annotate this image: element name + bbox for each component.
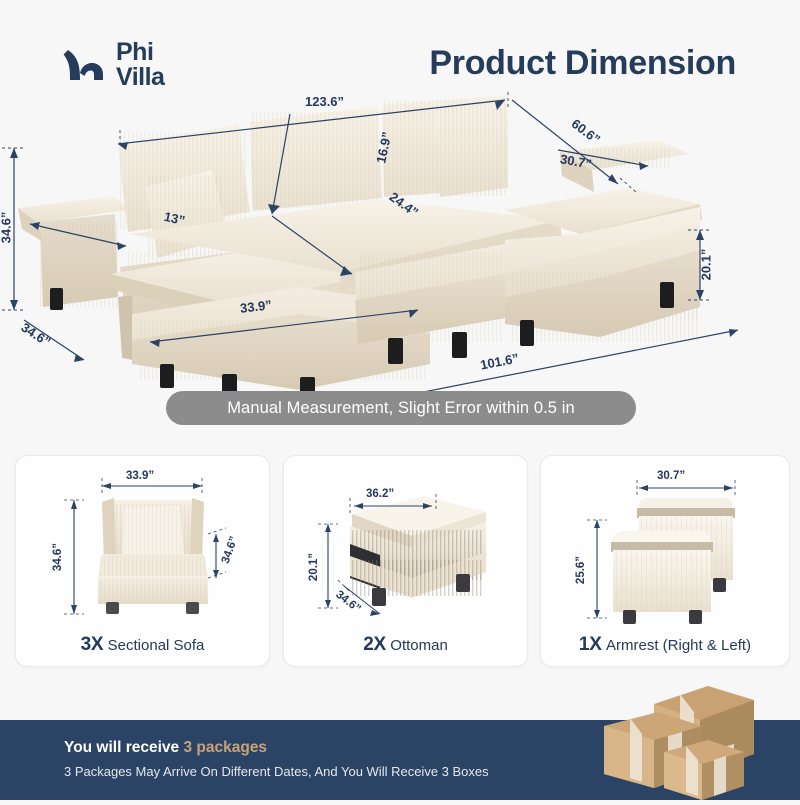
card-sectional-sofa[interactable]: 33.9” 34.6” 34.6” 3X Sectional Sofa <box>15 455 270 667</box>
brand-logo: Phi Villa <box>62 40 164 89</box>
card3-caption: 1X Armrest (Right & Left) <box>541 634 789 656</box>
card3-dim-height: 25.6” <box>575 556 587 584</box>
sectional-sofa-illustration <box>0 92 800 422</box>
card3-qty: 1X <box>579 634 602 655</box>
shipping-title-prefix: You will receive <box>64 739 183 756</box>
measurement-note: Manual Measurement, Slight Error within … <box>166 391 636 425</box>
dim-overall-width: 123.6” <box>305 94 344 109</box>
ottoman-art: 36.2” 20.1” 34.6” <box>284 456 527 624</box>
brand-line-2: Villa <box>116 65 164 90</box>
card-armrest[interactable]: 30.7” 25.6” 1X Armrest (Right & Left) <box>540 455 790 667</box>
infographic-page: Phi Villa Product Dimension <box>0 0 800 800</box>
shipping-subtitle: 3 Packages May Arrive On Different Dates… <box>64 764 489 779</box>
card1-dim-width: 33.9” <box>126 470 154 482</box>
card3-dim-width: 30.7” <box>657 470 685 482</box>
card1-name: Sectional Sofa <box>108 637 205 654</box>
card2-name: Ottoman <box>390 637 448 654</box>
card2-dim-height: 20.1” <box>308 553 320 581</box>
sectional-sofa-art: 33.9” 34.6” 34.6” <box>16 456 269 624</box>
page-title: Product Dimension <box>429 44 736 83</box>
dim-total-height: 34.6” <box>0 212 13 244</box>
card2-dim-width: 36.2” <box>366 488 394 500</box>
card3-name: Armrest (Right & Left) <box>606 637 751 654</box>
card2-qty: 2X <box>363 634 386 655</box>
card2-caption: 2X Ottoman <box>284 634 527 656</box>
shipping-title: You will receive 3 packages <box>64 739 267 757</box>
brand-line-1: Phi <box>116 40 164 65</box>
hero-product-diagram: 123.6” 60.6” 16.9” 24.4” 30.7” 13” 34.6”… <box>0 92 800 422</box>
card1-qty: 3X <box>81 634 104 655</box>
cardboard-boxes-icon <box>602 682 782 800</box>
card-ottoman[interactable]: 36.2” 20.1” 34.6” 2X Ottoman <box>283 455 528 667</box>
brand-wordmark: Phi Villa <box>116 40 164 89</box>
component-cards: 33.9” 34.6” 34.6” 3X Sectional Sofa <box>0 455 800 667</box>
armrest-art: 30.7” 25.6” <box>541 456 789 624</box>
phi-villa-logo-icon <box>62 42 108 88</box>
card1-dim-height: 34.6” <box>52 543 64 571</box>
card1-caption: 3X Sectional Sofa <box>16 634 269 656</box>
shipping-title-accent: 3 packages <box>183 739 267 756</box>
dim-seat-height: 20.1” <box>698 249 713 281</box>
